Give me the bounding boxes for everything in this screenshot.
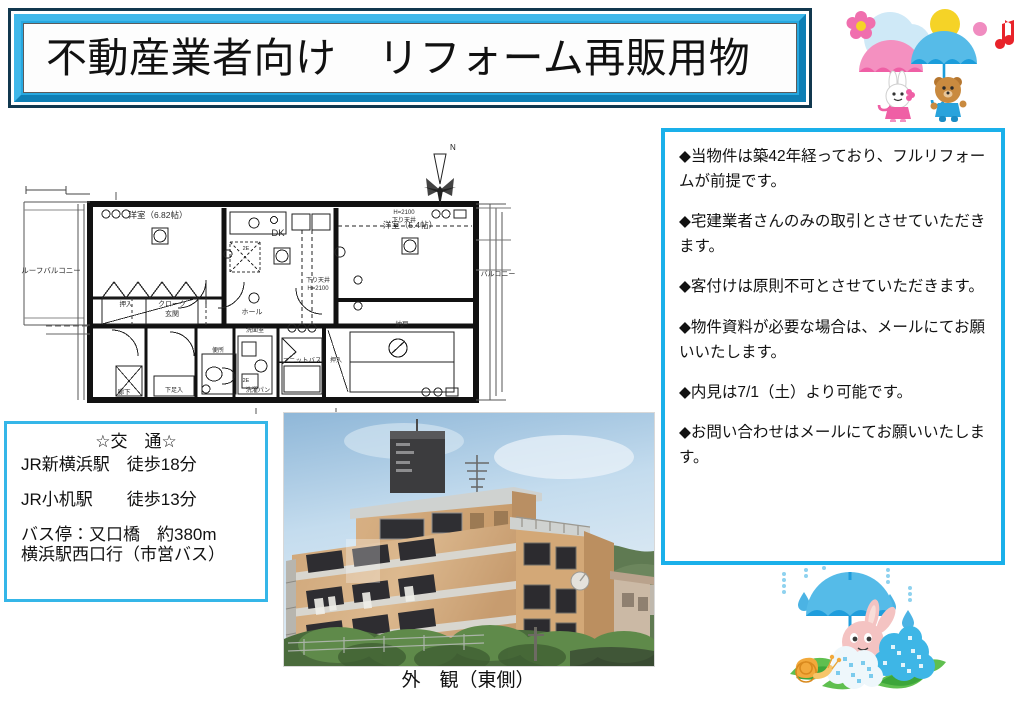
floor-plan-image: 洋室（6.82帖） 洋室（5.4帖） DK ホール 玄関 ルーフバルコニー バル… bbox=[6, 130, 654, 415]
clipart-rabbit-hydrangea-rain bbox=[762, 566, 958, 698]
fp-label-oshiire-3: 押入 bbox=[330, 356, 342, 364]
fp-label-sentakupan: 洗濯パン bbox=[246, 386, 270, 394]
bear-figure bbox=[931, 77, 967, 122]
title-banner: 不動産業者向け リフォーム再販用物 bbox=[8, 8, 812, 108]
transport-line-bus-route: 横浜駅西口行（市営バス） bbox=[7, 546, 265, 563]
transport-line-bus-stop: バス停：又口橋 約380m bbox=[7, 526, 265, 543]
fp-label-drop-ceiling-1: H=2100 bbox=[393, 210, 415, 216]
notes-list: ◆当物件は築42年経っており、フルリフォームが前提です。 ◆宅建業者さんのみの取… bbox=[665, 132, 1001, 470]
fp-label-rouka: 廊下 bbox=[118, 387, 132, 396]
transport-line-shin-yokohama: JR新横浜駅 徒歩18分 bbox=[7, 456, 265, 473]
transport-heading: ☆交 通☆ bbox=[7, 433, 265, 450]
title-banner-bevel: 不動産業者向け リフォーム再販用物 bbox=[14, 14, 806, 102]
fp-label-nando: 納戸 bbox=[396, 319, 410, 328]
exterior-photo bbox=[283, 412, 653, 665]
note-item: ◆物件資料が必要な場合は、メールにてお願いいたします。 bbox=[679, 315, 987, 365]
rabbit-figure bbox=[885, 71, 915, 122]
note-item: ◆宅建業者さんのみの取引とさせていただきます。 bbox=[679, 209, 987, 259]
fp-label-oshiire-2: 下足入 bbox=[165, 387, 183, 394]
note-item: ◆当物件は築42年経っており、フルリフォームが前提です。 bbox=[679, 144, 987, 194]
fp-label-roof-balcony: ルーフバルコニー bbox=[21, 266, 80, 275]
fp-label-balcony: バルコニー bbox=[481, 270, 516, 278]
fp-label-drop-ceiling-4: H=2100 bbox=[307, 286, 329, 292]
note-item: ◆お問い合わせはメールにてお願いいたします。 bbox=[679, 420, 987, 470]
fp-label-oshiire-1: 押入 bbox=[120, 299, 134, 308]
fp-label-hall: ホール bbox=[242, 308, 263, 316]
fp-label-benjo: 便所 bbox=[212, 346, 224, 354]
note-item: ◆内見は7/1（土）より可能です。 bbox=[679, 380, 987, 405]
music-note-icon bbox=[995, 20, 1014, 49]
fp-label-2e-2: 2E bbox=[243, 378, 250, 384]
pink-dot-icon bbox=[973, 22, 987, 36]
fp-label-drop-ceiling-2: 下り天井 bbox=[392, 216, 416, 224]
fp-label-genkan: 玄関 bbox=[165, 309, 179, 318]
fp-label-2e-1: 2E bbox=[243, 246, 250, 252]
transport-panel: ☆交 通☆ JR新横浜駅 徒歩18分 JR小机駅 徒歩13分 バス停：又口橋 約… bbox=[4, 421, 268, 602]
photo-caption: 外 観（東側） bbox=[283, 665, 653, 692]
note-item: ◆客付けは原則不可とさせていただきます。 bbox=[679, 274, 987, 299]
clipart-rabbit-bear-umbrellas bbox=[833, 2, 1025, 122]
fp-label-youshitsu-1: 洋室（6.82帖） bbox=[128, 210, 187, 220]
transport-line-kozukue: JR小机駅 徒歩13分 bbox=[7, 491, 265, 508]
svg-text:N: N bbox=[450, 143, 456, 152]
fp-label-drop-ceiling-3: 下り天井 bbox=[306, 276, 330, 284]
notes-panel: ◆当物件は築42年経っており、フルリフォームが前提です。 ◆宅建業者さんのみの取… bbox=[661, 128, 1005, 565]
title-banner-inner: 不動産業者向け リフォーム再販用物 bbox=[23, 23, 797, 93]
fp-label-unit-bath: ユニットバス bbox=[283, 356, 322, 364]
fp-label-dk: DK bbox=[271, 228, 285, 239]
flower-icon bbox=[847, 11, 876, 39]
fp-label-cloak: クローク bbox=[158, 300, 186, 308]
page-title: 不動産業者向け リフォーム再販用物 bbox=[24, 38, 750, 79]
flyer-page: 不動産業者向け リフォーム再販用物 bbox=[0, 0, 1028, 699]
fp-label-senmen: 洗面室 bbox=[246, 326, 264, 334]
transport-inner: ☆交 通☆ JR新横浜駅 徒歩18分 JR小机駅 徒歩13分 バス停：又口橋 約… bbox=[7, 424, 265, 563]
